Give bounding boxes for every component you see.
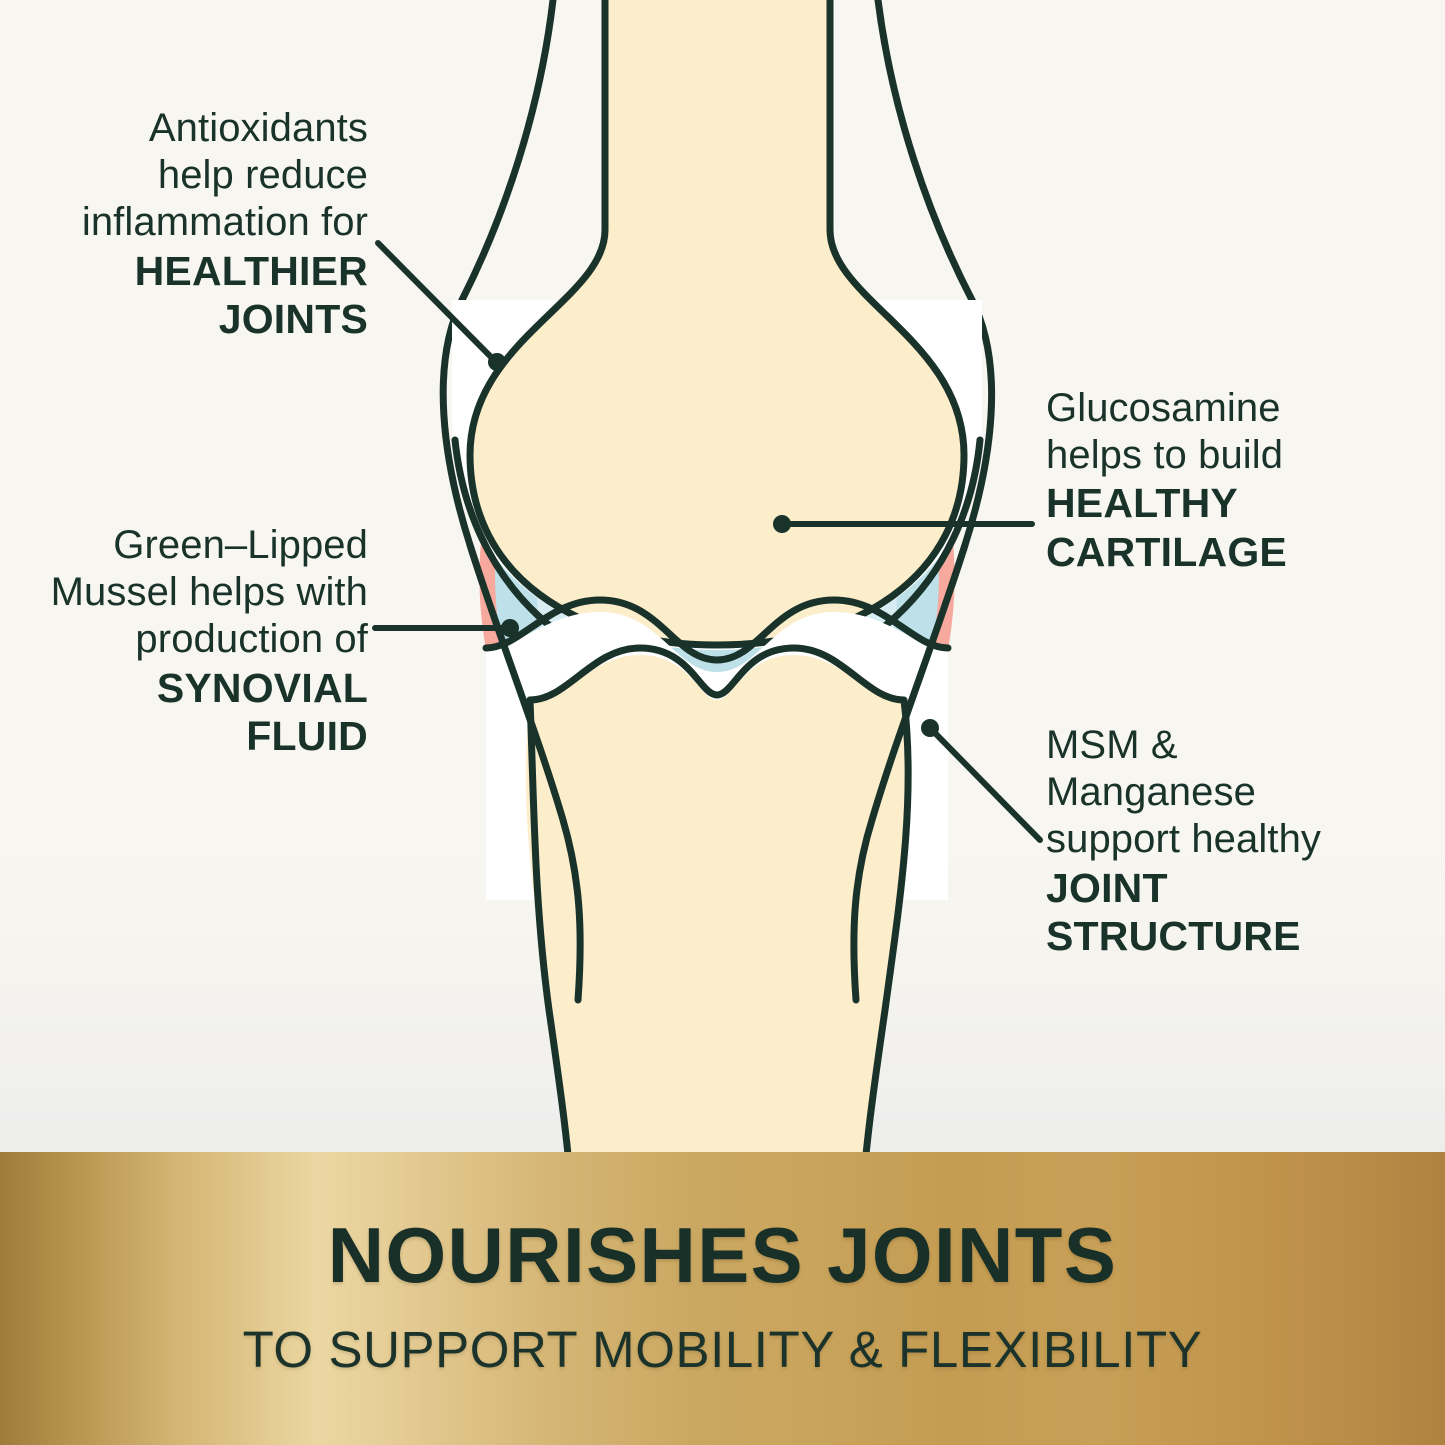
leader-dot-msm: [921, 719, 939, 737]
callout-antioxidants-lead-2: help reduce: [28, 152, 368, 199]
callout-mussel-lead-2: Mussel helps with: [8, 569, 368, 616]
leader-dot-antioxidants: [488, 353, 506, 371]
banner-subtitle: TO SUPPORT MOBILITY & FLEXIBILITY: [0, 1324, 1445, 1375]
callout-antioxidants-emph-2: JOINTS: [28, 295, 368, 343]
callout-glucosamine-emph-1: HEALTHY: [1046, 479, 1416, 527]
callout-msm-lead-1: MSM &: [1046, 722, 1426, 769]
callout-glucosamine-lead-2: helps to build: [1046, 432, 1416, 479]
callout-antioxidants: Antioxidants help reduce inflammation fo…: [28, 105, 368, 343]
joint-health-infographic: Antioxidants help reduce inflammation fo…: [0, 0, 1445, 1445]
callout-antioxidants-lead-3: inflammation for: [28, 199, 368, 246]
callout-mussel-emph-1: SYNOVIAL: [8, 664, 368, 712]
callout-mussel-lead-1: Green–Lipped: [8, 522, 368, 569]
banner-title: NOURISHES JOINTS: [0, 1216, 1445, 1294]
callout-antioxidants-emph-1: HEALTHIER: [28, 247, 368, 295]
gold-banner: NOURISHES JOINTS TO SUPPORT MOBILITY & F…: [0, 1152, 1445, 1445]
callout-antioxidants-lead-1: Antioxidants: [28, 105, 368, 152]
banner-inner: NOURISHES JOINTS TO SUPPORT MOBILITY & F…: [0, 1152, 1445, 1375]
leader-dot-glucosamine: [773, 515, 791, 533]
callout-msm-emph-1: JOINT: [1046, 864, 1426, 912]
callout-glucosamine-emph-2: CARTILAGE: [1046, 528, 1416, 576]
callout-glucosamine: Glucosamine helps to build HEALTHY CARTI…: [1046, 385, 1416, 576]
callout-mussel-emph-2: FLUID: [8, 712, 368, 760]
callout-msm-emph-2: STRUCTURE: [1046, 912, 1426, 960]
leader-dot-mussel: [501, 619, 519, 637]
callout-msm-lead-3: support healthy: [1046, 816, 1426, 863]
callout-mussel-lead-3: production of: [8, 616, 368, 663]
callout-glucosamine-lead-1: Glucosamine: [1046, 385, 1416, 432]
callout-msm-lead-2: Manganese: [1046, 769, 1426, 816]
callout-msm-manganese: MSM & Manganese support healthy JOINT ST…: [1046, 722, 1426, 960]
leader-line-msm: [933, 731, 1040, 840]
callout-green-lipped-mussel: Green–Lipped Mussel helps with productio…: [8, 522, 368, 760]
